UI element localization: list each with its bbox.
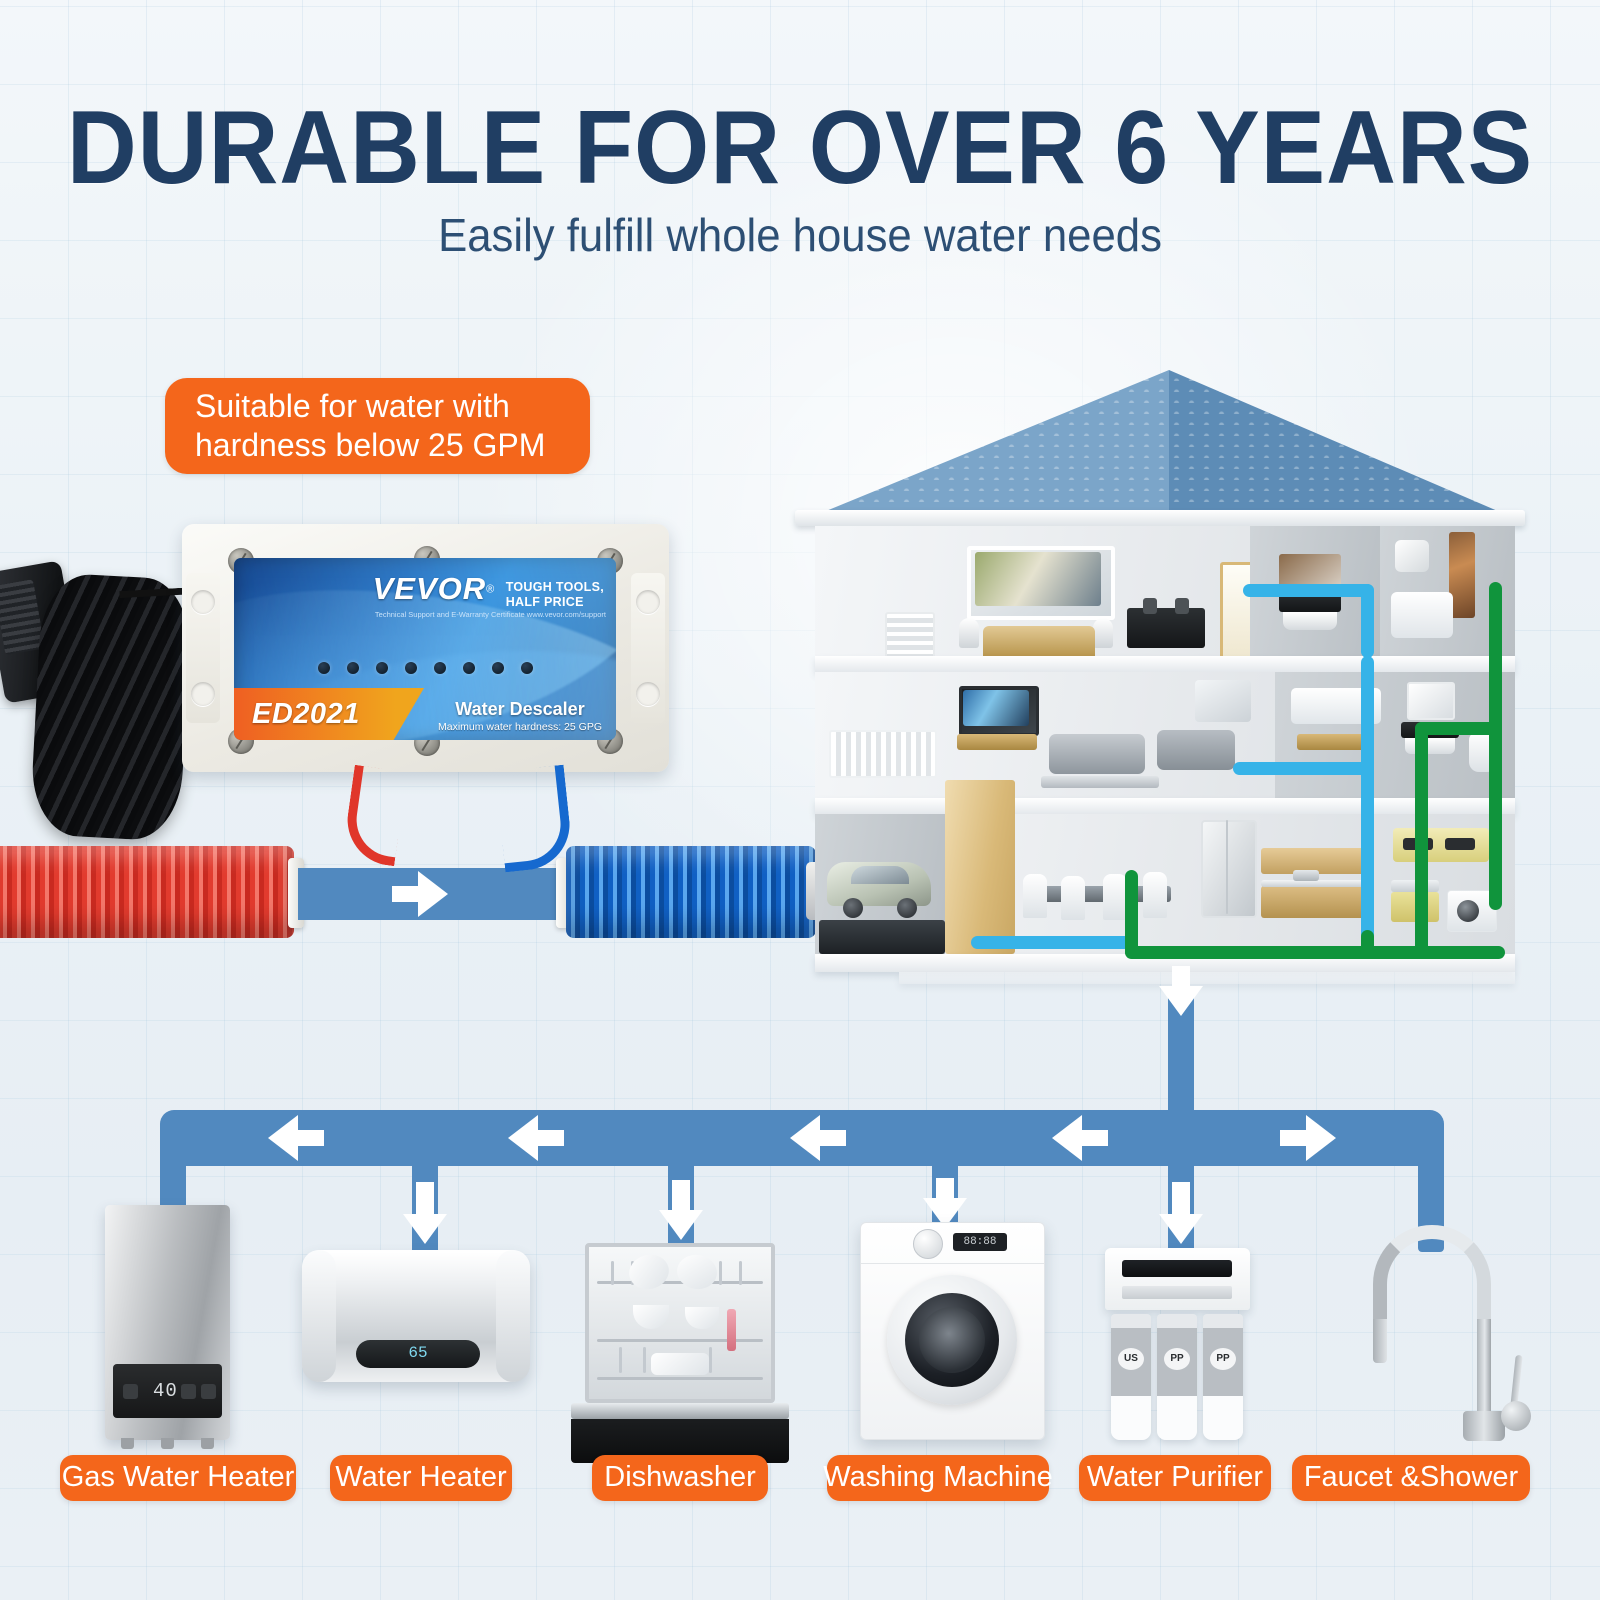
water-heater-display: 65	[408, 1344, 427, 1362]
water-heater-appliance: 65	[302, 1250, 530, 1382]
label-faucet-shower: Faucet &Shower	[1292, 1455, 1530, 1501]
supply-pipe-upper-branch	[1243, 584, 1374, 597]
dresser	[1127, 608, 1205, 648]
gas-heater-pipe-foot	[161, 1438, 174, 1449]
tank-end-cap-right	[496, 1250, 530, 1382]
brand-tagline-line2: HALF PRICE	[506, 595, 584, 609]
manifold-arrow-right-icon	[1306, 1115, 1336, 1161]
device-product-name: Water Descaler	[438, 699, 602, 720]
brand-tagline-line1: TOUGH TOOLS,	[506, 580, 604, 594]
dishwasher-rack	[597, 1377, 763, 1380]
purifier-head-unit	[1105, 1248, 1250, 1310]
washer-door-glass	[905, 1293, 999, 1387]
led-indicator	[347, 662, 359, 674]
water-purifier-appliance: US PP PP	[1105, 1248, 1250, 1440]
balcony-railing	[885, 612, 935, 656]
wall-art-image	[975, 552, 1101, 606]
drop-arrow-stem	[936, 1178, 954, 1200]
kitchen-sink	[1293, 870, 1319, 881]
dishwasher-tine	[719, 1261, 722, 1285]
led-indicator	[434, 662, 446, 674]
tank-end-cap-left	[302, 1250, 336, 1382]
device-product-block: Water Descaler Maximum water hardness: 2…	[438, 699, 602, 733]
manifold-arrow-left-icon	[1052, 1115, 1082, 1161]
car-wheel	[843, 898, 863, 918]
wooden-feature-wall	[945, 780, 1015, 954]
washer-program-dial[interactable]	[913, 1229, 943, 1259]
house-cutaway-illustration	[795, 370, 1525, 1030]
manifold-arrow-left-icon	[508, 1115, 538, 1161]
device-mount-hole	[636, 590, 660, 614]
dish-bowl	[633, 1305, 669, 1329]
flow-arrow-stem	[392, 886, 426, 902]
drain-pipe-drop	[1415, 722, 1428, 958]
registered-mark-icon: ®	[486, 584, 494, 596]
label-dishwasher: Dishwasher	[592, 1455, 768, 1501]
dish-plate	[675, 1252, 720, 1292]
roof-slope-left	[809, 370, 1169, 518]
car-windows	[851, 866, 909, 884]
supply-pipe-main-riser	[1361, 656, 1374, 952]
bedroom-room	[875, 526, 1250, 656]
vanity-mirror	[1279, 554, 1341, 588]
tv-console	[957, 734, 1037, 750]
dishwasher-tine	[643, 1347, 646, 1373]
dining-room	[1017, 814, 1197, 954]
sofa-secondary	[1157, 730, 1235, 770]
page-title: DURABLE FOR OVER 6 YEARS	[56, 96, 1544, 200]
hardness-callout-badge: Suitable for water with hardness below 2…	[165, 378, 590, 474]
vanity-cabinet	[1283, 612, 1337, 630]
label-gas-water-heater: Gas Water Heater	[60, 1455, 296, 1501]
faucet-outlet-tip	[1373, 1319, 1387, 1363]
label-water-heater: Water Heater	[330, 1455, 512, 1501]
roof-fascia	[795, 510, 1525, 526]
dresser-decor	[1143, 598, 1157, 614]
water-descaler-device: VEVOR® TOUGH TOOLS, HALF PRICE Technical…	[182, 524, 669, 772]
drop-arrow-stem	[1172, 1182, 1190, 1216]
bathtub	[1391, 592, 1453, 638]
drop-arrow-down-icon	[403, 1214, 447, 1244]
device-mount-hole	[636, 682, 660, 706]
gas-heater-button	[123, 1384, 138, 1399]
dish-utensil	[727, 1309, 736, 1351]
dishwasher-appliance	[585, 1243, 775, 1403]
dining-chair	[1023, 874, 1047, 918]
refrigerator	[1201, 820, 1257, 918]
descender-arrow-icon	[1159, 986, 1203, 1016]
drop-arrow-down-icon	[659, 1210, 703, 1240]
dining-chair	[1061, 876, 1085, 920]
bed-headboard	[983, 626, 1095, 656]
faucet-spout	[1373, 1225, 1491, 1329]
kitchen	[1197, 814, 1377, 954]
faucet-base	[1463, 1411, 1505, 1441]
faucet-mixer-knob[interactable]	[1501, 1401, 1531, 1431]
manifold-arrow-stem	[1280, 1130, 1306, 1146]
coffee-table	[1041, 776, 1159, 788]
dishwasher-tine	[739, 1261, 742, 1285]
garage-floor	[819, 920, 945, 954]
car-wheel	[897, 898, 917, 918]
table-lamp	[959, 618, 979, 648]
faucet-lever-handle[interactable]	[1510, 1355, 1522, 1407]
label-washing-machine: Washing Machine	[827, 1455, 1049, 1501]
roof-slope-right	[1169, 370, 1514, 518]
wardrobe	[1220, 562, 1250, 656]
device-model-number: ED2021	[252, 698, 360, 731]
device-mount-hole	[191, 682, 215, 706]
laundry-washer-door	[1457, 900, 1479, 922]
mirror	[1407, 682, 1455, 720]
manifold-arrow-stem	[538, 1130, 564, 1146]
page-subtitle: Easily fulfill whole house water needs	[40, 208, 1560, 262]
led-indicator	[376, 662, 388, 674]
dresser-decor	[1175, 598, 1189, 614]
sofa	[1049, 734, 1145, 774]
dishwasher-door-edge	[571, 1403, 789, 1419]
purifier-cartridge: PP	[1203, 1314, 1243, 1440]
cartridge-label: PP	[1210, 1348, 1236, 1370]
dish-plate	[625, 1251, 672, 1294]
device-mount-hole	[191, 590, 215, 614]
brand-name: VEVOR	[373, 571, 487, 607]
device-led-row	[318, 662, 533, 674]
brand-tagline: TOUGH TOOLS, HALF PRICE	[506, 580, 604, 609]
hard-water-inlet-hose	[0, 846, 294, 938]
tv-screen	[963, 690, 1029, 726]
led-indicator	[318, 662, 330, 674]
brand-block: VEVOR® TOUGH TOOLS, HALF PRICE	[373, 571, 604, 609]
supply-pipe-ground-branch	[971, 936, 1131, 949]
gas-heater-control-panel: 40	[113, 1364, 222, 1418]
washer-control-strip: 88:88	[861, 1223, 1044, 1264]
gas-water-heater-appliance: 40	[105, 1205, 230, 1440]
countertop	[1261, 880, 1369, 887]
led-indicator	[492, 662, 504, 674]
drain-pipe-junction	[1361, 930, 1374, 958]
cartridge-label: US	[1118, 1348, 1144, 1370]
gas-heater-button	[181, 1384, 196, 1399]
floor-slab-upper	[815, 656, 1515, 672]
device-blue-wire	[495, 765, 574, 873]
gas-heater-pipe-foot	[201, 1438, 214, 1449]
shelf-unit	[1195, 680, 1251, 722]
manifold-arrow-stem	[820, 1130, 846, 1146]
drop-arrow-stem	[416, 1182, 434, 1216]
dish-pot	[651, 1353, 709, 1375]
refrigerator-divider	[1226, 820, 1228, 914]
drop-arrow-stem	[672, 1180, 690, 1212]
gas-heater-button	[201, 1384, 216, 1399]
infographic-canvas: DURABLE FOR OVER 6 YEARS Easily fulfill …	[0, 0, 1600, 1600]
middle-bathroom	[1281, 672, 1393, 798]
dishwasher-tine	[709, 1347, 712, 1373]
device-faceplate: VEVOR® TOUGH TOOLS, HALF PRICE Technical…	[234, 558, 616, 740]
foundation-edge	[899, 972, 1515, 984]
drain-pipe-branch-upper	[1415, 722, 1502, 735]
table-lamp	[1093, 618, 1113, 648]
drain-pipe-riser	[1489, 582, 1502, 910]
towel-roll	[1395, 540, 1429, 572]
cabinet-vent	[1445, 838, 1475, 850]
dishwasher-tine	[611, 1261, 614, 1285]
gas-heater-display: 40	[153, 1380, 178, 1402]
balcony-railing	[829, 730, 937, 778]
device-red-wire	[342, 765, 408, 866]
drain-pipe-main-horizontal	[1125, 946, 1505, 959]
base-cabinets	[1261, 886, 1369, 918]
faucet-fixture	[1355, 1215, 1540, 1443]
dishwasher-interior	[585, 1243, 775, 1403]
manifold-arrow-left-icon	[790, 1115, 820, 1161]
drop-arrow-down-icon	[1159, 1214, 1203, 1244]
dish-bowl	[685, 1307, 719, 1329]
washer-drum	[919, 1307, 985, 1373]
manifold-arrow-stem	[298, 1130, 324, 1146]
led-indicator	[521, 662, 533, 674]
dining-chair	[1103, 874, 1127, 920]
balcony-area	[825, 672, 945, 798]
purifier-bracket	[1122, 1286, 1232, 1299]
purifier-cartridge: PP	[1157, 1314, 1197, 1440]
purifier-display	[1122, 1260, 1232, 1277]
manifold-arrow-left-icon	[268, 1115, 298, 1161]
device-spec-text: Maximum water hardness: 25 GPG	[438, 721, 602, 733]
dining-chair	[1143, 872, 1167, 918]
vanity-cabinet	[1405, 738, 1455, 754]
purifier-cartridge: US	[1111, 1314, 1151, 1440]
manifold-arrow-stem	[1082, 1130, 1108, 1146]
washing-machine-appliance: 88:88	[860, 1222, 1045, 1440]
supply-pipe-middle-branch	[1233, 762, 1374, 775]
washer-door[interactable]	[887, 1275, 1017, 1405]
label-water-purifier: Water Purifier	[1079, 1455, 1271, 1501]
treated-water-outlet-hose	[566, 846, 816, 938]
led-indicator	[405, 662, 417, 674]
washer-display: 88:88	[953, 1233, 1007, 1251]
water-heater-control-panel: 65	[356, 1340, 480, 1368]
device-fine-print: Technical Support and E-Warranty Certifi…	[375, 610, 606, 619]
descender-arrow-stem	[1172, 966, 1190, 990]
gas-heater-pipe-foot	[121, 1438, 134, 1449]
led-indicator	[463, 662, 475, 674]
floor-slab-middle	[815, 798, 1515, 814]
dishwasher-tine	[619, 1347, 622, 1373]
drain-pipe-kitchen-riser	[1125, 870, 1138, 958]
dishwasher-rack	[597, 1339, 763, 1342]
garage	[819, 840, 945, 954]
house-roof	[795, 370, 1525, 518]
cartridge-label: PP	[1164, 1348, 1190, 1370]
